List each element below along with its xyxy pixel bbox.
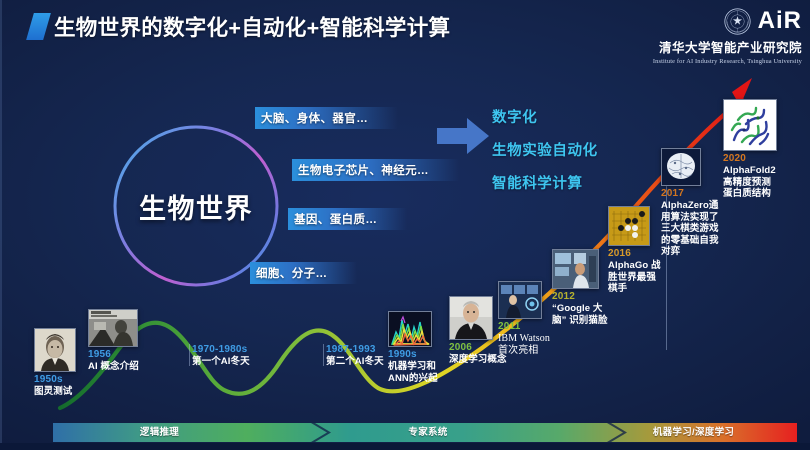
milestone-1956: 1956 AI 概念介绍 xyxy=(88,309,139,373)
title-text: 生物世界的数字化+自动化+智能科学计算 xyxy=(54,11,450,42)
milestone-year: 2012 xyxy=(552,291,608,303)
tsinghua-emblem-icon xyxy=(724,8,751,35)
logo-chinese-name: 清华大学智能产业研究院 xyxy=(626,37,802,56)
watson-stage-photo xyxy=(498,281,542,319)
milestone-caption: AlphaZero通 用算法实现了 三大棋类游戏 的零基础自我 对弈 xyxy=(661,200,719,258)
right-arrow-icon xyxy=(437,116,489,156)
milestone-tick xyxy=(189,344,190,366)
left-edge-line xyxy=(0,0,2,450)
milestone-2016: 2016 AlphaGo 战 胜世界最强 棋手 xyxy=(608,206,661,295)
output-item-ai-for-science: 智能科学计算 xyxy=(492,172,598,193)
go-board-photo xyxy=(608,206,650,246)
rainbow-surface-plot xyxy=(388,311,432,347)
bio-tag-bioelectronic-chip-neuron: 生物电子芯片、神经元… xyxy=(292,159,459,181)
page-title: 生物世界的数字化+自动化+智能科学计算 xyxy=(30,11,450,42)
slide-canvas: 生物世界的数字化+自动化+智能科学计算 AiR 清华大学智能产业研究院 Inst… xyxy=(0,0,810,450)
dartmouth-workshop-photo xyxy=(88,309,138,347)
phase-label-logic-reasoning: 逻辑推理 xyxy=(53,424,266,441)
milestone-1970-1980s: 1970-1980s 第一个AI冬天 xyxy=(192,342,250,368)
protein-structure-photo xyxy=(723,99,777,151)
milestone-1990s: 1990s 机器学习和 ANN的兴起 xyxy=(388,311,438,384)
google-brain-lab-photo xyxy=(552,249,599,289)
milestone-2020: 2020 AlphaFold2 高精度预测 蛋白质结构 xyxy=(723,99,777,200)
hinton-portrait-photo xyxy=(449,296,493,340)
logo-english-name: Institute for AI Industry Research, Tsin… xyxy=(626,58,802,65)
milestone-year: 1987-1993 xyxy=(326,344,384,356)
milestone-year: 1970-1980s xyxy=(192,344,250,356)
milestone-caption: 图灵测试 xyxy=(34,386,76,398)
milestone-year: 2017 xyxy=(661,188,719,200)
milestone-year: 2020 xyxy=(723,153,777,165)
milestone-caption: 机器学习和 ANN的兴起 xyxy=(388,361,438,384)
milestone-2017: 2017 AlphaZero通 用算法实现了 三大棋类游戏 的零基础自我 对弈 xyxy=(661,148,719,258)
milestone-year: 1950s xyxy=(34,374,76,386)
title-accent-mark xyxy=(26,13,51,40)
milestone-caption: AlphaFold2 高精度预测 蛋白质结构 xyxy=(723,165,777,200)
bio-tag-gene-protein: 基因、蛋白质… xyxy=(288,208,407,230)
air-logo: AiR 清华大学智能产业研究院 Institute for AI Industr… xyxy=(626,6,802,68)
bottom-strip xyxy=(0,443,810,450)
milestone-year: 2011 xyxy=(498,321,550,333)
milestone-caption: AlphaGo 战 胜世界最强 棋手 xyxy=(608,260,661,295)
milestone-1987-1993: 1987-1993 第二个AI冬天 xyxy=(326,342,384,368)
bio-tag-cell-molecule: 细胞、分子… xyxy=(250,262,357,284)
output-item-lab-automation: 生物实验自动化 xyxy=(492,139,598,160)
bio-tag-brain-body-organ: 大脑、身体、器官… xyxy=(255,107,398,129)
milestone-tick xyxy=(323,344,324,366)
output-list: 数字化 生物实验自动化 智能科学计算 xyxy=(492,106,598,205)
milestone-year: 1990s xyxy=(388,349,438,361)
neural-brain-photo xyxy=(661,148,701,186)
milestone-caption: “Google 大 脑” 识别猫脸 xyxy=(552,303,608,326)
output-item-digitization: 数字化 xyxy=(492,106,598,127)
air-wordmark: AiR xyxy=(758,8,802,34)
phase-label-machine-deep-learning: 机器学习/深度学习 xyxy=(590,424,797,441)
phase-label-expert-systems: 专家系统 xyxy=(288,424,568,441)
milestone-caption: AI 概念介绍 xyxy=(88,361,139,373)
turing-portrait-photo xyxy=(34,328,76,372)
milestone-caption: 第二个AI冬天 xyxy=(326,356,384,368)
milestone-caption: IBM Watson 首次亮相 xyxy=(498,333,550,356)
milestone-year: 1956 xyxy=(88,349,139,361)
milestone-2012: 2012 “Google 大 脑” 识别猫脸 xyxy=(552,249,608,326)
slide-header: 生物世界的数字化+自动化+智能科学计算 AiR 清华大学智能产业研究院 Inst… xyxy=(0,0,810,66)
milestone-caption: 第一个AI冬天 xyxy=(192,356,250,368)
milestone-year: 2016 xyxy=(608,248,661,260)
milestone-1950s: 1950s 图灵测试 xyxy=(34,328,76,398)
milestone-2011: 2011 IBM Watson 首次亮相 xyxy=(498,281,550,356)
